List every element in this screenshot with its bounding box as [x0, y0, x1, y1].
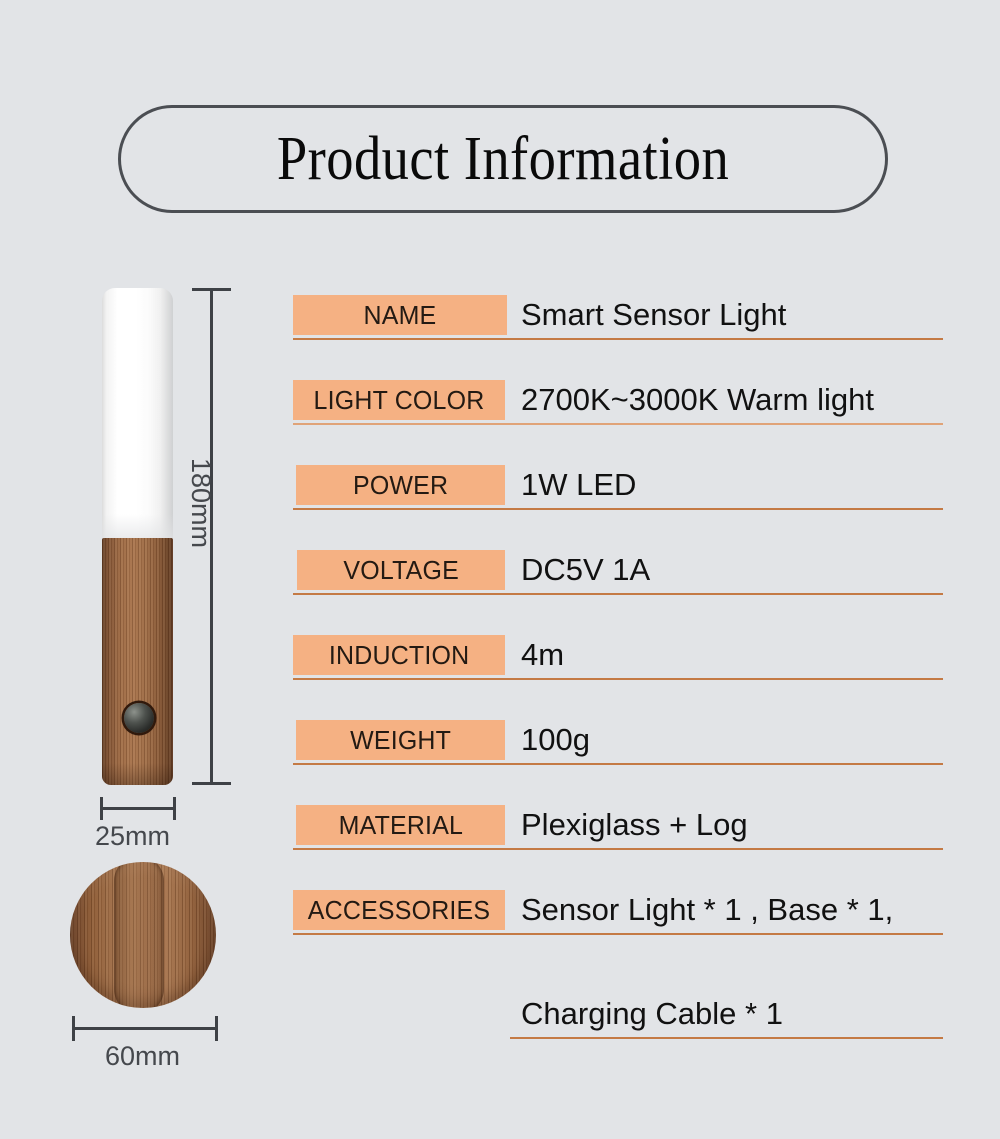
spec-value-induction: 4m	[521, 627, 564, 683]
dimension-tick-right	[215, 1016, 218, 1041]
lamp-wood-body	[102, 538, 173, 785]
specification-table: NAME Smart Sensor Light LIGHT COLOR 2700…	[293, 288, 945, 1053]
spec-row-light-color: LIGHT COLOR 2700K~3000K Warm light	[293, 373, 945, 458]
spec-value-weight: 100g	[521, 712, 590, 768]
base-diameter-dimension: 60mm	[72, 1013, 232, 1075]
spec-row-underline	[293, 338, 943, 340]
spec-label-weight: WEIGHT	[296, 720, 505, 760]
spec-label-text: ACCESSORIES	[308, 895, 490, 926]
spec-value-light-color: 2700K~3000K Warm light	[521, 372, 874, 428]
spec-row-material: MATERIAL Plexiglass + Log	[293, 798, 945, 883]
spec-label-text: VOLTAGE	[343, 555, 459, 586]
spec-label-light-color: LIGHT COLOR	[293, 380, 505, 420]
spec-row-name: NAME Smart Sensor Light	[293, 288, 945, 373]
spec-value-voltage: DC5V 1A	[521, 542, 650, 598]
motion-sensor-icon	[124, 703, 154, 733]
spec-value-name: Smart Sensor Light	[521, 287, 786, 343]
spec-label-voltage: VOLTAGE	[297, 550, 505, 590]
spec-row-underline	[293, 678, 943, 680]
spec-row-voltage: VOLTAGE DC5V 1A	[293, 543, 945, 628]
height-dimension: 180mm	[188, 288, 258, 785]
spec-label-induction: INDUCTION	[293, 635, 505, 675]
height-dimension-label: 180mm	[185, 458, 216, 548]
spec-row-underline	[293, 763, 943, 765]
wooden-base-illustration	[70, 862, 216, 1008]
base-slot	[114, 862, 164, 1008]
page-title: Product Information	[277, 124, 729, 195]
spec-row-weight: WEIGHT 100g	[293, 713, 945, 798]
spec-value-material: Plexiglass + Log	[521, 797, 748, 853]
lamp-shade	[102, 288, 173, 540]
spec-label-name: NAME	[293, 295, 507, 335]
dimension-tick-right	[173, 797, 176, 820]
dimension-line-horizontal	[72, 1027, 218, 1030]
diameter-dimension: 25mm	[100, 795, 180, 855]
spec-row-power: POWER 1W LED	[293, 458, 945, 543]
dimension-line-horizontal	[100, 807, 176, 810]
product-information-page: Product Information 180mm 25mm	[0, 0, 1000, 1139]
spec-row-underline	[293, 423, 943, 425]
diameter-dimension-label: 25mm	[95, 821, 170, 852]
spec-row-underline	[293, 593, 943, 595]
base-diameter-dimension-label: 60mm	[105, 1041, 180, 1072]
spec-label-text: WEIGHT	[350, 725, 451, 756]
spec-label-text: MATERIAL	[338, 810, 463, 841]
spec-row-underline	[293, 848, 943, 850]
spec-label-text: INDUCTION	[329, 640, 469, 671]
spec-value-accessories-line2: Charging Cable * 1	[521, 986, 783, 1042]
spec-label-text: POWER	[353, 470, 448, 501]
spec-row-underline-continuation	[510, 1037, 943, 1039]
spec-row-underline	[293, 933, 943, 935]
spec-row-accessories: ACCESSORIES Sensor Light * 1 , Base * 1,…	[293, 883, 945, 1053]
spec-label-text: LIGHT COLOR	[314, 385, 485, 416]
lamp-illustration	[102, 288, 173, 785]
spec-label-text: NAME	[364, 300, 437, 331]
spec-value-accessories: Sensor Light * 1 , Base * 1,	[521, 882, 893, 938]
spec-label-power: POWER	[296, 465, 505, 505]
dimension-cap-bottom	[192, 782, 231, 785]
product-figure: 180mm 25mm 60mm	[0, 0, 285, 1139]
spec-row-induction: INDUCTION 4m	[293, 628, 945, 713]
spec-label-material: MATERIAL	[296, 805, 505, 845]
spec-label-accessories: ACCESSORIES	[293, 890, 505, 930]
spec-value-power: 1W LED	[521, 457, 636, 513]
spec-row-underline	[293, 508, 943, 510]
